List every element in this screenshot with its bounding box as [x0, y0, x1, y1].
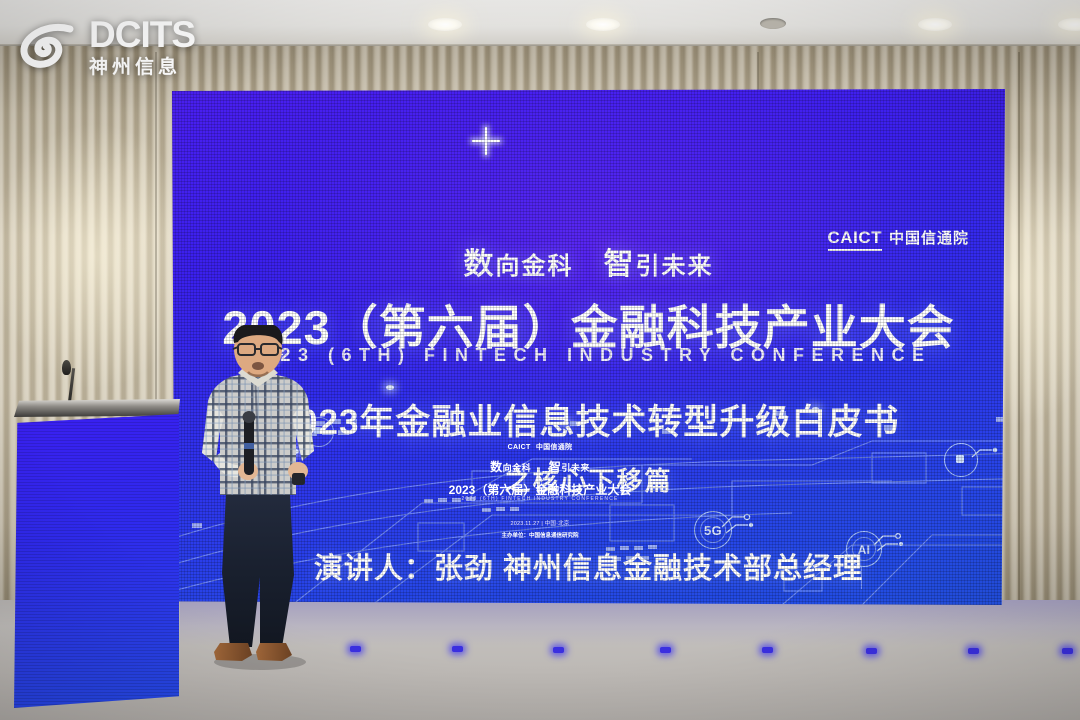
podium-tagline-small-1: 向金科 — [503, 463, 532, 473]
podium-tagline-small-2: 引未来 — [561, 463, 590, 473]
screen-tagline: 数向金科智引未来 — [172, 239, 1005, 283]
podium-host-organization: 主办单位：中国信息通信研究院 — [0, 531, 1080, 539]
presenter-trousers — [222, 493, 294, 647]
dcits-brand-cn: 神州信息 — [89, 58, 195, 77]
tagline-part1-small: 向金科 — [496, 253, 574, 280]
podium-caict-name-cn: 中国信通院 — [536, 444, 573, 451]
presenter-mouth — [252, 362, 264, 370]
stage-edge-led-icon — [660, 647, 671, 653]
stage-edge-led-icon — [1062, 648, 1073, 654]
stage-edge-led-icon — [350, 646, 361, 652]
stage-edge-led-icon — [968, 648, 979, 654]
podium-tagline: 数向金科 智引未来 — [0, 458, 1080, 475]
podium-top-surface — [14, 399, 180, 417]
presenter-figure — [186, 325, 346, 685]
ceiling-vent-icon — [760, 18, 786, 29]
microphone-head-icon — [243, 411, 256, 423]
stage-edge-led-icon — [866, 648, 877, 654]
conference-stage-photo: 5G AI — [0, 0, 1080, 720]
gooseneck-microphone-head-icon — [62, 360, 71, 375]
dcits-swirl-logo-icon — [18, 21, 80, 73]
tagline-part1-big: 数 — [464, 248, 496, 281]
podium-caict-logo: CAICT 中国信通院 — [0, 442, 1080, 452]
podium-tagline-big-2: 智 — [549, 460, 562, 474]
glow-dot — [386, 385, 394, 390]
dcits-watermark: DCITS 神州信息 — [18, 16, 195, 77]
tagline-part2-big: 智 — [604, 248, 636, 281]
dcits-brand-en: DCITS — [89, 16, 195, 53]
recessed-downlight-icon — [918, 18, 952, 31]
stage-edge-led-icon — [452, 646, 463, 652]
podium-caict-mark: CAICT — [508, 444, 531, 451]
recessed-downlight-icon — [428, 18, 462, 31]
presenter-shoe-left — [214, 643, 252, 661]
stage-edge-led-icon — [553, 647, 564, 653]
tagline-part2-small: 引未来 — [636, 253, 714, 280]
presenter-clicker — [292, 473, 305, 485]
recessed-downlight-icon — [586, 18, 620, 31]
podium-tagline-big-1: 数 — [490, 460, 503, 474]
podium-date-location: 2023.11.27 | 中国·北京 — [0, 519, 1080, 527]
microphone-band — [244, 443, 254, 449]
podium-conference-title-en: 2023 (6TH) FINTECH INDUSTRY CONFERENCE — [0, 496, 1080, 502]
stage-edge-led-icon — [762, 647, 773, 653]
